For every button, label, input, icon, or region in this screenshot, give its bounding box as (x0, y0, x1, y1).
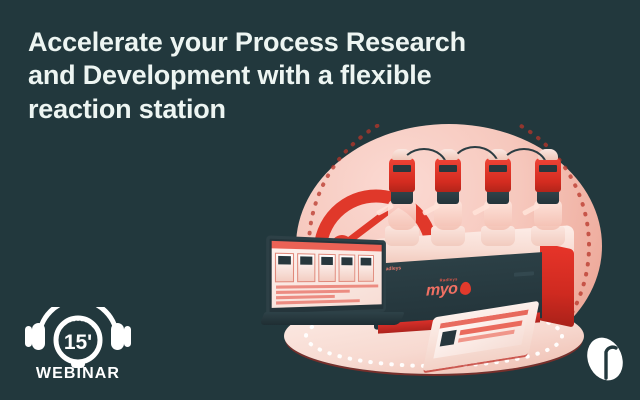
product-image-reaction-station: Radleys Radleys myo (258, 140, 610, 380)
instrument-side-panel (540, 242, 574, 327)
myo-brand-name: myo (426, 281, 457, 299)
touchscreen-controller (428, 310, 534, 362)
badge-type-label: WEBINAR (22, 365, 134, 383)
myo-brand-mark: Radleys myo (426, 276, 471, 299)
stopwatch-headphones-icon: 15' (22, 307, 134, 369)
software-data-rows (272, 282, 382, 308)
badge-duration-label: 15' (64, 331, 92, 354)
laptop-base (259, 312, 404, 325)
laptop-lid (266, 235, 386, 316)
leaf-drop-logo (582, 334, 628, 384)
laptop-screen (272, 241, 382, 308)
flame-drop-icon (460, 281, 471, 295)
reactor-vessel-group (382, 142, 578, 246)
webinar-badge: 15' WEBINAR (22, 307, 134, 387)
control-software-laptop (262, 238, 402, 342)
webinar-promo-banner: Accelerate your Process Research and Dev… (0, 0, 640, 400)
page-title: Accelerate your Process Research and Dev… (28, 26, 498, 126)
software-vial-row (272, 248, 382, 282)
